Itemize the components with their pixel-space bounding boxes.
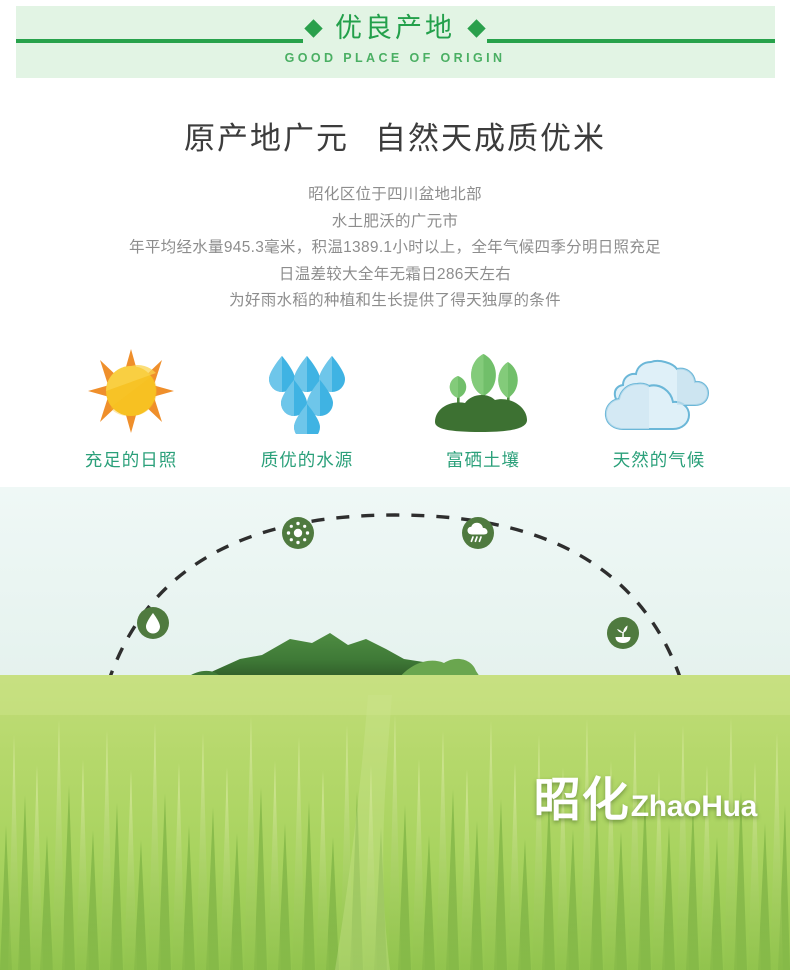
sun-icon: [56, 348, 206, 434]
product-detail-page: 优良产地 GOOD PLACE OF ORIGIN 原产地广元自然天成质优米 昭…: [0, 0, 790, 970]
feature-label: 充足的日照: [56, 447, 206, 472]
description-line: 日温差较大全年无霜日286天左右: [0, 262, 790, 289]
feature-item-soil: 富硒土壤: [408, 348, 558, 472]
feature-label: 质优的水源: [232, 447, 382, 472]
rain-cloud-badge-icon[interactable]: [461, 516, 495, 555]
header: 优良产地 GOOD PLACE OF ORIGIN: [0, 6, 790, 78]
soil-plants-icon: [408, 348, 558, 434]
rice-paddy-field-photo: 昭化 ZhaoHua: [0, 675, 790, 970]
brand-watermark: 昭化 ZhaoHua: [534, 761, 757, 830]
sprout-badge-icon[interactable]: [606, 616, 640, 655]
brand-name-en: ZhaoHua: [631, 790, 757, 824]
feature-item-water: 质优的水源: [232, 348, 382, 472]
description-line: 水土肥沃的广元市: [0, 209, 790, 236]
description-block: 昭化区位于四川盆地北部 水土肥沃的广元市 年平均经水量945.3毫米，积温138…: [0, 182, 790, 315]
feature-list: 充足的日照: [56, 352, 734, 472]
page-title: 原产地广元自然天成质优米: [0, 113, 790, 158]
feature-item-climate: 天然的气候: [584, 348, 734, 472]
arc-diagram: [0, 487, 790, 677]
sun-badge-icon[interactable]: [281, 516, 315, 555]
headline-part-2: 自然天成质优米: [375, 121, 606, 156]
feature-label: 天然的气候: [584, 447, 734, 472]
diamond-left-icon: [304, 19, 322, 37]
clouds-icon: [584, 348, 734, 434]
description-line: 昭化区位于四川盆地北部: [0, 182, 790, 209]
water-drops-icon: [232, 348, 382, 434]
feature-item-sunlight: 充足的日照: [56, 348, 206, 472]
journey-arc-scene: [0, 487, 790, 677]
description-line: 为好雨水稻的种植和生长提供了得天独厚的条件: [0, 288, 790, 315]
header-title: 优良产地: [329, 6, 461, 50]
diamond-right-icon: [467, 19, 485, 37]
headline-part-1: 原产地广元: [184, 121, 349, 156]
description-line: 年平均经水量945.3毫米，积温1389.1小时以上，全年气候四季分明日照充足: [0, 235, 790, 262]
feature-label: 富硒土壤: [408, 447, 558, 472]
brand-name-cn: 昭化: [534, 761, 630, 830]
header-subtitle: GOOD PLACE OF ORIGIN: [285, 51, 506, 65]
water-drop-badge-icon[interactable]: [136, 606, 170, 645]
header-title-row: 优良产地: [303, 6, 487, 50]
